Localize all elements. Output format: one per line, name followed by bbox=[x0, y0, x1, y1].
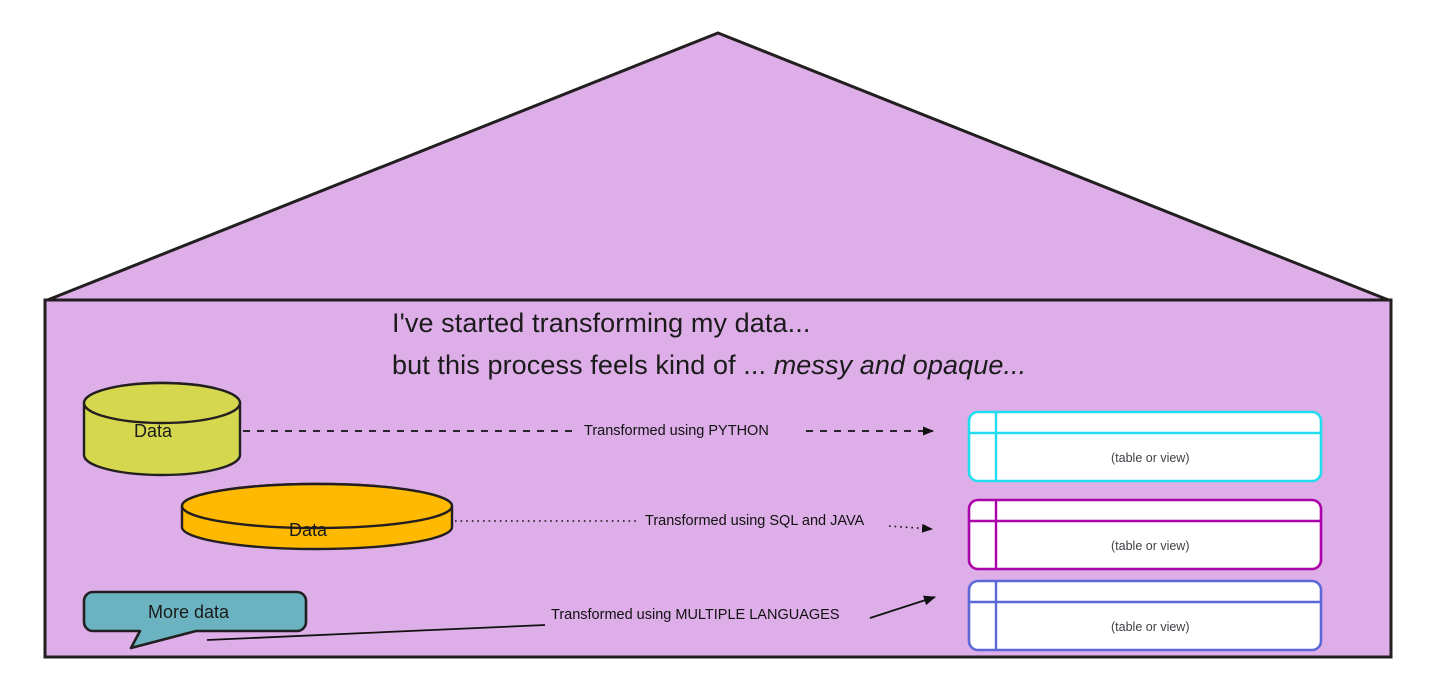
headline-line-1: I've started transforming my data... bbox=[392, 303, 810, 343]
connector-3-label: Transformed using MULTIPLE LANGUAGES bbox=[551, 607, 840, 623]
target-table-1-frame bbox=[969, 412, 1321, 481]
target-table-2-frame bbox=[969, 500, 1321, 569]
diagram-canvas: I've started transforming my data... but… bbox=[0, 0, 1430, 688]
target-3-label: (table or view) bbox=[1111, 620, 1190, 634]
target-table-1[interactable] bbox=[969, 412, 1321, 481]
source-3-label: More data bbox=[148, 602, 229, 623]
target-2-label: (table or view) bbox=[1111, 539, 1190, 553]
headline-line-2: but this process feels kind of ... messy… bbox=[392, 345, 1026, 385]
house-roof bbox=[45, 33, 1391, 301]
source-2-label: Data bbox=[289, 520, 327, 541]
target-table-3-frame bbox=[969, 581, 1321, 650]
target-table-2[interactable] bbox=[969, 500, 1321, 569]
source-1-label: Data bbox=[134, 421, 172, 442]
connector-1-label: Transformed using PYTHON bbox=[584, 423, 769, 439]
headline-emphasis: messy and opaque... bbox=[774, 350, 1027, 380]
headline-line-2-text: but this process feels kind of ... bbox=[392, 350, 774, 380]
source-cylinder-1-top bbox=[84, 383, 240, 423]
target-table-3[interactable] bbox=[969, 581, 1321, 650]
connector-2-label: Transformed using SQL and JAVA bbox=[645, 513, 864, 529]
target-1-label: (table or view) bbox=[1111, 451, 1190, 465]
diagram-svg bbox=[0, 0, 1430, 688]
